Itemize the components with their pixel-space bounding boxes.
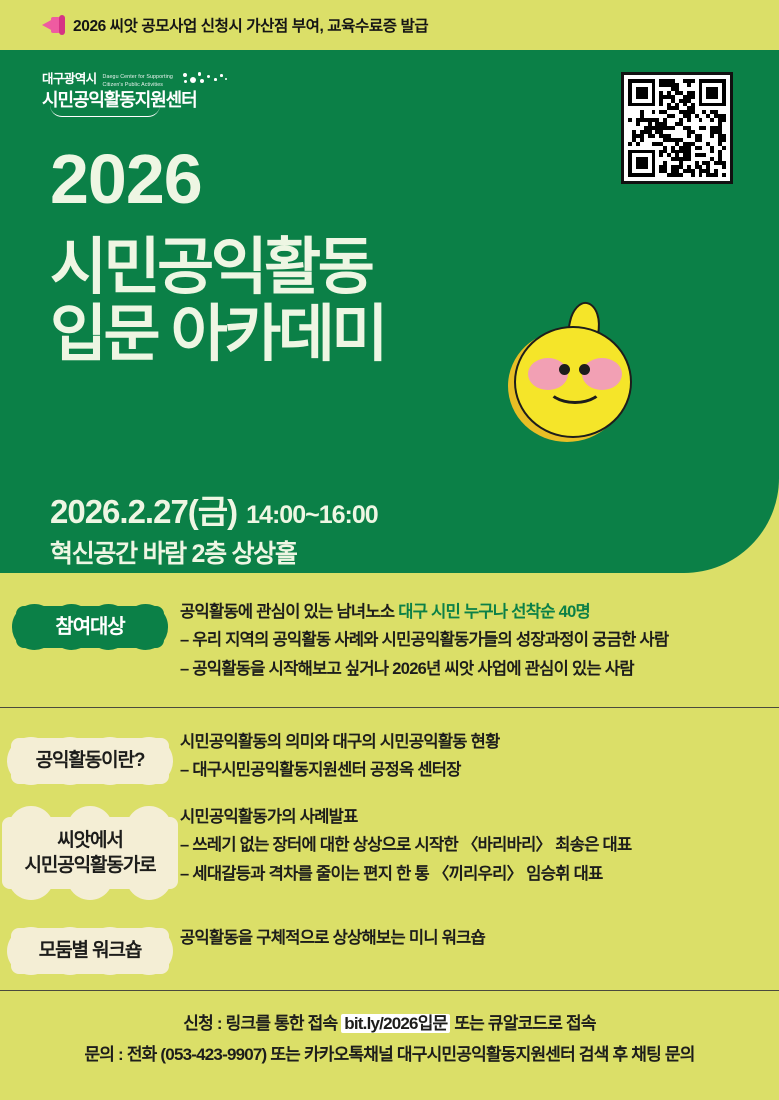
event-date: 2026.2.27(금) [50, 485, 237, 533]
section-badge: 씨앗에서시민공익활동가로 [2, 805, 178, 901]
section-divider [0, 707, 779, 708]
footer: 신청 : 링크를 통한 접속 bit.ly/2026입문 또는 큐알코드로 접속… [0, 1008, 779, 1071]
body-text: – 대구시민공익활동지원센터 공정옥 센터장 [180, 761, 461, 779]
section-body-line: – 세대갈등과 격차를 줄이는 편지 한 통 〈끼리우리〉 임승휘 대표 [180, 860, 749, 888]
badge-column: 참여대상 [0, 596, 180, 683]
body-text: – 공익활동을 시작해보고 싶거나 2026년 씨앗 사업에 관심이 있는 사람 [180, 660, 634, 678]
poster-root: 2026 씨앗 공모사업 신청시 가산점 부여, 교육수료증 발급 대구광역시 … [0, 0, 779, 1100]
top-notice-bar: 2026 씨앗 공모사업 신청시 가산점 부여, 교육수료증 발급 [0, 0, 779, 50]
hero-title-line1: 시민공익활동 [50, 233, 371, 302]
highlight-text: 대구 시민 누구나 선착순 40명 [398, 603, 590, 621]
hero-panel: 대구광역시 Daegu Center for Supporting Citize… [0, 50, 779, 573]
section-divider [0, 990, 779, 991]
section-body-line: – 우리 지역의 공익활동 사례와 시민공익활동가들의 성장과정이 궁금한 사람 [180, 626, 749, 654]
apply-suffix: 또는 큐알코드로 접속 [450, 1014, 595, 1033]
hero-title-line2: 입문 아카데미 [50, 300, 385, 369]
event-time: 14:00~16:00 [246, 501, 377, 530]
qr-code[interactable] [621, 72, 733, 184]
apply-line: 신청 : 링크를 통한 접속 bit.ly/2026입문 또는 큐알코드로 접속 [0, 1008, 779, 1039]
section-badge-label: 모둠별 워크숍 [39, 938, 141, 963]
notice-text: 2026 씨앗 공모사업 신청시 가산점 부여, 교육수료증 발급 [73, 14, 428, 36]
hero-year: 2026 [50, 145, 202, 214]
section-body-line: 시민공익활동가의 사례발표 [180, 803, 749, 831]
badge-column: 모둠별 워크숍 [0, 918, 180, 982]
section-body-line: 시민공익활동의 의미와 대구의 시민공익활동 현황 [180, 728, 749, 756]
logo-city-name: 대구광역시 [42, 72, 97, 86]
body-text: – 쓰레기 없는 장터에 대한 상상으로 시작한 〈바리바리〉 최송은 대표 [180, 836, 632, 854]
section-body-line: 공익활동에 관심이 있는 남녀노소 대구 시민 누구나 선착순 40명 [180, 598, 749, 626]
hero-title: 시민공익활동입문 아카데미 [50, 235, 385, 369]
section-body-line: 공익활동을 구체적으로 상상해보는 미니 워크숍 [180, 924, 749, 952]
logo-dots-icon [181, 72, 231, 86]
badge-column: 씨앗에서시민공익활동가로 [0, 803, 180, 901]
section-badge: 모둠별 워크숍 [11, 920, 169, 982]
section-badge: 공익활동이란? [11, 730, 169, 792]
section-body: 공익활동에 관심이 있는 남녀노소 대구 시민 누구나 선착순 40명– 우리 … [180, 596, 779, 683]
section-body-line: – 대구시민공익활동지원센터 공정옥 센터장 [180, 756, 749, 784]
section-badge-label: 공익활동이란? [36, 748, 145, 773]
logo-center-name: 시민공익활동지원센터 [42, 91, 242, 111]
body-text: 공익활동을 구체적으로 상상해보는 미니 워크숍 [180, 929, 485, 947]
program-section: 참여대상공익활동에 관심이 있는 남녀노소 대구 시민 누구나 선착순 40명–… [0, 596, 779, 683]
section-body-line: – 공익활동을 시작해보고 싶거나 2026년 씨앗 사업에 관심이 있는 사람 [180, 655, 749, 683]
program-section: 공익활동이란?시민공익활동의 의미와 대구의 시민공익활동 현황– 대구시민공익… [0, 728, 779, 792]
body-text: – 세대갈등과 격차를 줄이는 편지 한 통 〈끼리우리〉 임승휘 대표 [180, 865, 603, 883]
event-venue: 혁신공간 바람 2층 상상홀 [50, 534, 297, 570]
section-badge-label: 참여대상 [55, 614, 124, 640]
logo-english-line1: Daegu Center for Supporting [103, 74, 173, 80]
apply-url[interactable]: bit.ly/2026입문 [341, 1014, 450, 1033]
section-body: 시민공익활동의 의미와 대구의 시민공익활동 현황– 대구시민공익활동지원센터 … [180, 728, 779, 792]
program-section: 모둠별 워크숍공익활동을 구체적으로 상상해보는 미니 워크숍 [0, 918, 779, 982]
apply-prefix: 신청 : 링크를 통한 접속 [183, 1014, 341, 1033]
megaphone-icon [42, 15, 68, 35]
body-text: – 우리 지역의 공익활동 사례와 시민공익활동가들의 성장과정이 궁금한 사람 [180, 631, 668, 649]
body-text: 시민공익활동가의 사례발표 [180, 808, 358, 826]
section-body-line: – 쓰레기 없는 장터에 대한 상상으로 시작한 〈바리바리〉 최송은 대표 [180, 831, 749, 859]
section-body: 시민공익활동가의 사례발표– 쓰레기 없는 장터에 대한 상상으로 시작한 〈바… [180, 803, 779, 901]
body-text: 시민공익활동의 의미와 대구의 시민공익활동 현황 [180, 733, 500, 751]
logo-english-line2: Citizen's Public Activities [103, 82, 164, 88]
contact-line: 문의 : 전화 (053-423-9907) 또는 카카오톡채널 대구시민공익활… [0, 1039, 779, 1070]
organization-logo: 대구광역시 Daegu Center for Supporting Citize… [42, 72, 242, 124]
body-text: 공익활동에 관심이 있는 남녀노소 [180, 603, 398, 621]
seed-mascot-icon [506, 302, 638, 442]
program-section: 씨앗에서시민공익활동가로시민공익활동가의 사례발표– 쓰레기 없는 장터에 대한… [0, 803, 779, 901]
badge-column: 공익활동이란? [0, 728, 180, 792]
event-datetime: 2026.2.27(금) 14:00~16:00 [50, 485, 378, 533]
section-badge: 참여대상 [16, 598, 164, 656]
section-badge-label: 씨앗에서시민공익활동가로 [24, 828, 155, 878]
section-body: 공익활동을 구체적으로 상상해보는 미니 워크숍 [180, 918, 779, 982]
